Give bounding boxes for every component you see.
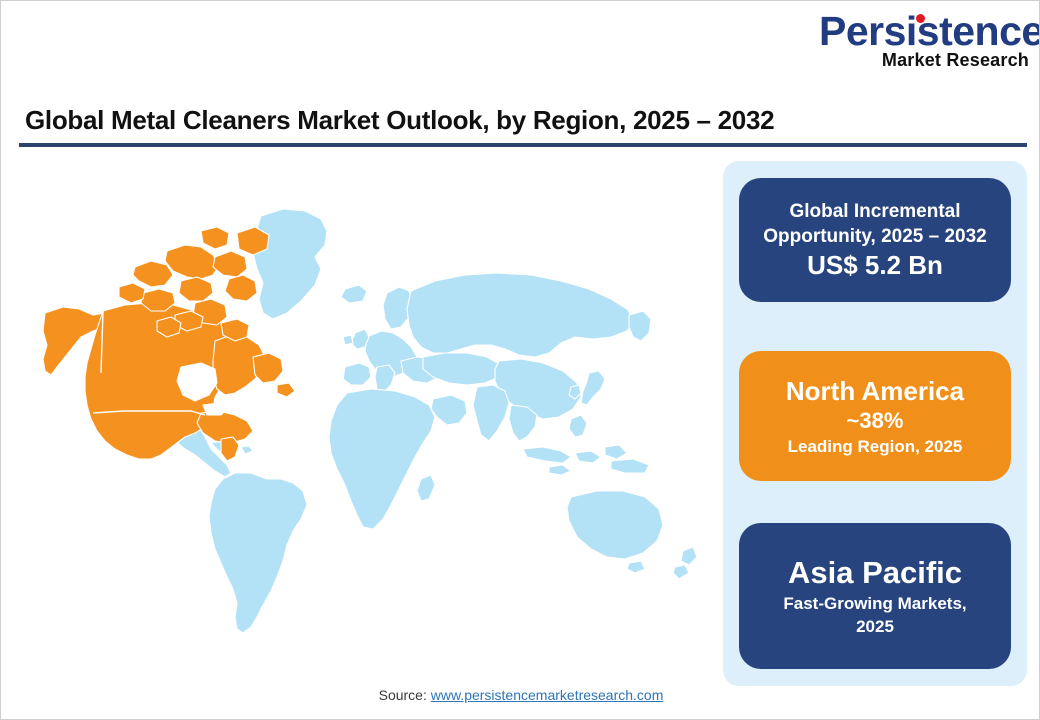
card-leading-region[interactable]: North America ~38% Leading Region, 2025 [739, 351, 1011, 481]
infographic-page: Persistence Market Research Global Metal… [0, 0, 1040, 720]
logo-red-dot-icon [916, 14, 925, 23]
card1-line1: Global Incremental [789, 199, 960, 224]
world-map-svg [15, 161, 715, 677]
logo-brand-text: Persistence [819, 9, 1040, 53]
card1-line2: Opportunity, 2025 – 2032 [763, 224, 987, 249]
highlights-panel: Global Incremental Opportunity, 2025 – 2… [723, 161, 1027, 686]
card-fast-growing-region[interactable]: Asia Pacific Fast-Growing Markets, 2025 [739, 523, 1011, 669]
card3-caption-line1: Fast-Growing Markets, [783, 592, 966, 615]
source-url-link[interactable]: www.persistencemarketresearch.com [431, 687, 664, 703]
card3-region: Asia Pacific [788, 554, 962, 592]
source-line: Source: www.persistencemarketresearch.co… [1, 687, 1040, 703]
world-map [15, 161, 715, 677]
company-logo: Persistence Market Research [819, 9, 1031, 71]
card-global-incremental-opportunity[interactable]: Global Incremental Opportunity, 2025 – 2… [739, 178, 1011, 302]
card2-region: North America [786, 375, 964, 407]
card2-caption: Leading Region, 2025 [788, 435, 963, 458]
title-divider [19, 143, 1027, 147]
map-great-lakes [203, 403, 227, 415]
card3-caption-line2: 2025 [856, 615, 894, 638]
source-label: Source: [379, 687, 427, 703]
page-title: Global Metal Cleaners Market Outlook, by… [25, 105, 774, 136]
card1-value: US$ 5.2 Bn [807, 249, 943, 281]
card2-share: ~38% [847, 407, 904, 435]
